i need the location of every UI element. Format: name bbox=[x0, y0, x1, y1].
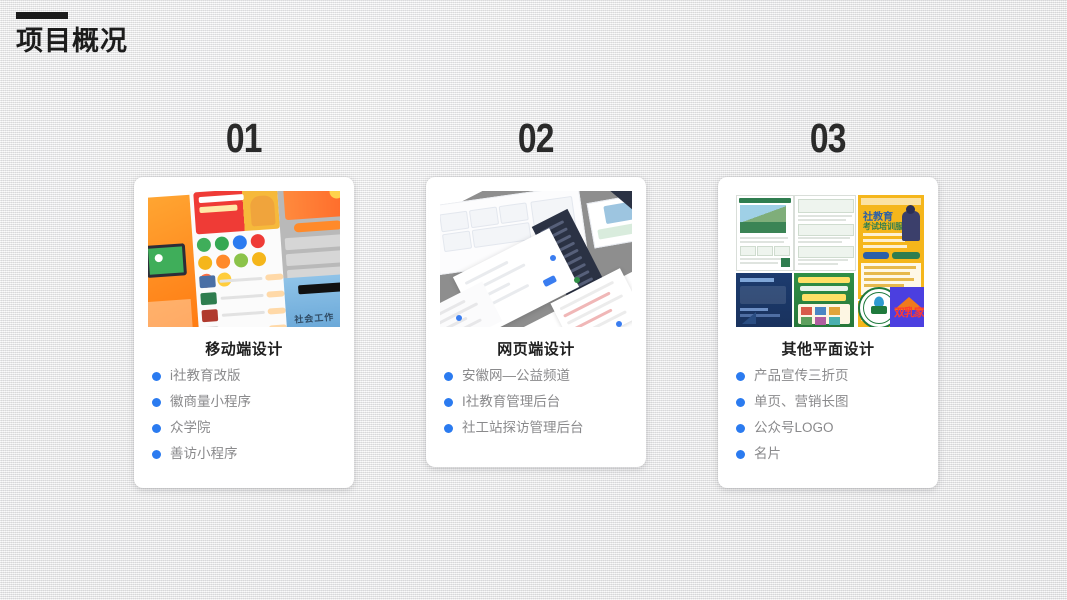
bullet-icon bbox=[736, 372, 745, 381]
list-item[interactable]: 社工站探访管理后台 bbox=[444, 420, 632, 437]
project-card-3[interactable]: 社教育 考试培训服务 bbox=[718, 177, 938, 488]
app-screen-cover: 社会工作 bbox=[283, 273, 340, 327]
list-item[interactable]: i社教育改版 bbox=[152, 368, 340, 385]
brochure-green-2 bbox=[794, 195, 856, 271]
bullet-icon bbox=[736, 424, 745, 433]
print-design-collage: 社教育 考试培训服务 bbox=[732, 191, 924, 327]
logo-text: 双乳家 bbox=[894, 304, 924, 320]
bullet-icon bbox=[152, 450, 161, 459]
card-image-print-design: 社教育 考试培训服务 bbox=[732, 191, 924, 327]
list-item-label: 众学院 bbox=[170, 420, 211, 437]
column-number-1: 01 bbox=[226, 118, 262, 159]
bullet-icon bbox=[444, 398, 453, 407]
column-number-3: 03 bbox=[810, 118, 846, 159]
list-item[interactable]: 众学院 bbox=[152, 420, 340, 437]
card-heading-2: 网页端设计 bbox=[440, 338, 632, 359]
app-cover-label: 社会工作 bbox=[294, 310, 335, 326]
app-screen-home bbox=[189, 191, 291, 327]
list-item[interactable]: 单页、营销长图 bbox=[736, 394, 924, 411]
card-image-web-design bbox=[440, 191, 632, 327]
project-column-3: 03 bbox=[718, 118, 938, 488]
bullet-icon bbox=[736, 398, 745, 407]
brochure-green-1 bbox=[736, 195, 794, 271]
list-item[interactable]: 善访小程序 bbox=[152, 446, 340, 463]
list-item-label: 公众号LOGO bbox=[754, 420, 834, 437]
list-item-label: 安徽网—公益频道 bbox=[462, 368, 570, 385]
list-item[interactable]: 产品宣传三折页 bbox=[736, 368, 924, 385]
list-item-label: 徽商量小程序 bbox=[170, 394, 251, 411]
corner-triangle-icon bbox=[608, 191, 632, 211]
list-item-label: i社教育改版 bbox=[170, 368, 241, 385]
card-list-2: 安徽网—公益频道 I社教育管理后台 社工站探访管理后台 bbox=[440, 368, 632, 446]
list-item-label: 产品宣传三折页 bbox=[754, 368, 849, 385]
poster-green bbox=[794, 273, 854, 327]
bullet-icon bbox=[152, 372, 161, 381]
list-item[interactable]: 公众号LOGO bbox=[736, 420, 924, 437]
project-column-2: 02 bbox=[426, 118, 646, 488]
mobile-design-collage: 社会工作 bbox=[148, 191, 340, 327]
project-column-1: 01 bbox=[134, 118, 354, 488]
list-item[interactable]: 安徽网—公益频道 bbox=[444, 368, 632, 385]
list-item[interactable]: 名片 bbox=[736, 446, 924, 463]
list-item-label: 单页、营销长图 bbox=[754, 394, 849, 411]
project-overview-columns: 01 bbox=[134, 118, 938, 488]
bullet-icon bbox=[152, 398, 161, 407]
title-accent-bar bbox=[16, 12, 68, 19]
bullet-icon bbox=[444, 424, 453, 433]
brochure-navy bbox=[736, 273, 792, 327]
card-image-mobile-design: 社会工作 bbox=[148, 191, 340, 327]
card-heading-1: 移动端设计 bbox=[148, 338, 340, 359]
project-card-1[interactable]: 社会工作 移动端设计 i社教育改版 徽商量小程序 众学院 善访小程序 bbox=[134, 177, 354, 488]
web-design-collage bbox=[440, 191, 632, 327]
app-screen-detail bbox=[277, 191, 340, 280]
column-number-2: 02 bbox=[518, 118, 554, 159]
card-heading-3: 其他平面设计 bbox=[732, 338, 924, 359]
list-item[interactable]: I社教育管理后台 bbox=[444, 394, 632, 411]
list-item-label: 社工站探访管理后台 bbox=[462, 420, 584, 437]
list-item-label: 名片 bbox=[754, 446, 781, 463]
page-title: 项目概况 bbox=[16, 27, 128, 57]
list-item-label: I社教育管理后台 bbox=[462, 394, 560, 411]
card-list-3: 产品宣传三折页 单页、营销长图 公众号LOGO 名片 bbox=[732, 368, 924, 472]
project-card-2[interactable]: 网页端设计 安徽网—公益频道 I社教育管理后台 社工站探访管理后台 bbox=[426, 177, 646, 467]
slide-header: 项目概况 bbox=[16, 12, 128, 57]
bullet-icon bbox=[444, 372, 453, 381]
card-list-1: i社教育改版 徽商量小程序 众学院 善访小程序 bbox=[148, 368, 340, 472]
bullet-icon bbox=[152, 424, 161, 433]
logo-purple-house: 双乳家 bbox=[890, 287, 924, 327]
list-item[interactable]: 徽商量小程序 bbox=[152, 394, 340, 411]
list-item-label: 善访小程序 bbox=[170, 446, 238, 463]
bullet-icon bbox=[736, 450, 745, 459]
poster-yellow: 社教育 考试培训服务 bbox=[858, 195, 924, 299]
